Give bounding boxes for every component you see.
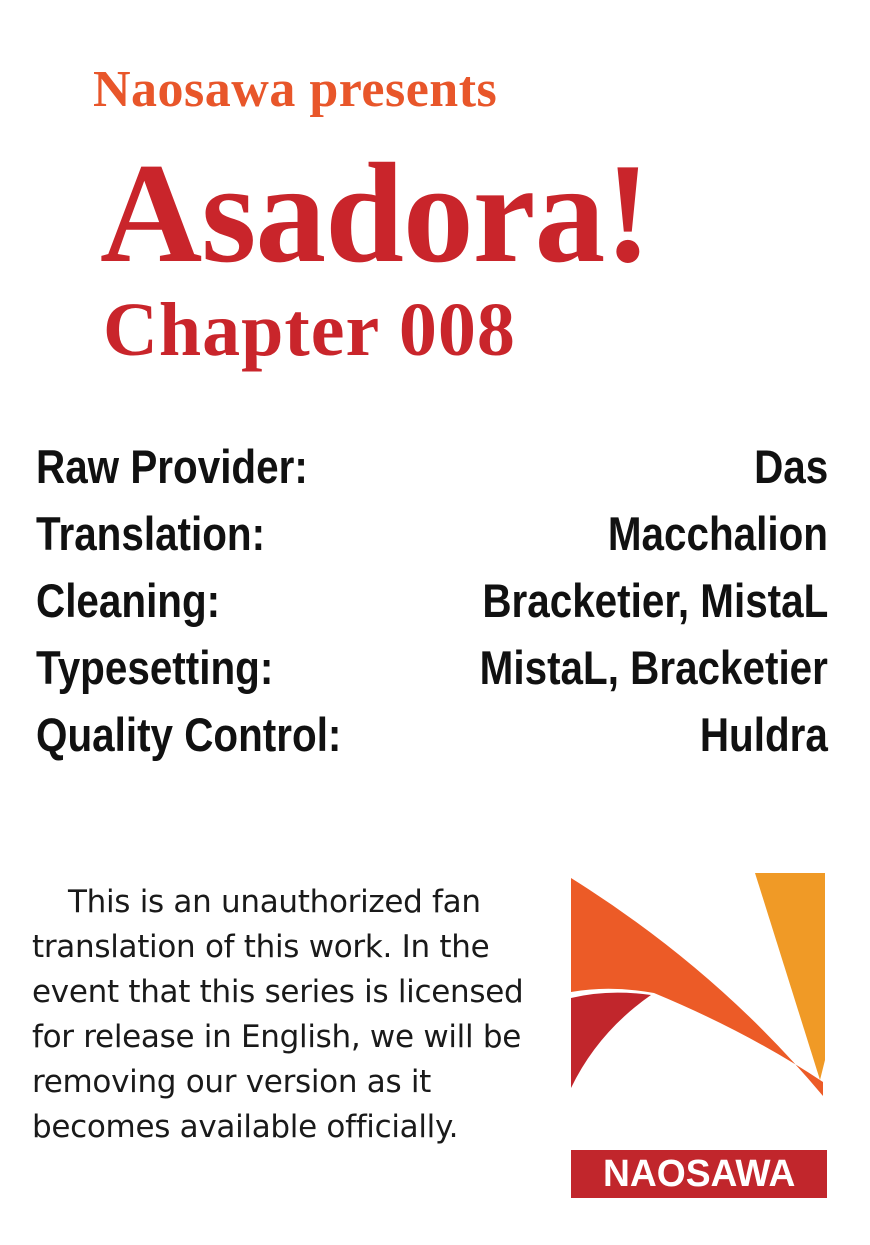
title-page: Naosawa presents Asadora! Chapter 008 Ra… bbox=[0, 0, 870, 1245]
chapter-title: Chapter 008 bbox=[103, 292, 516, 368]
presents-line: Naosawa presents bbox=[93, 64, 497, 116]
credit-role-label: Translation: bbox=[36, 500, 265, 567]
series-title: Asadora! bbox=[100, 142, 650, 285]
credit-name-value: MistaL, Bracketier bbox=[480, 634, 828, 701]
naosawa-logo-mark-icon bbox=[568, 870, 828, 1148]
credit-name-value: Huldra bbox=[700, 701, 828, 768]
credit-role-label: Quality Control: bbox=[36, 701, 341, 768]
credit-name-value: Bracketier, MistaL bbox=[482, 567, 828, 634]
credit-role-label: Typesetting: bbox=[36, 634, 273, 701]
credit-row-translation: Translation: Macchalion bbox=[36, 500, 828, 567]
logo-red-wedge-icon bbox=[571, 993, 651, 1088]
credit-row-raw-provider: Raw Provider: Das bbox=[36, 433, 828, 500]
logo-wordmark-text: NAOSAWA bbox=[603, 1155, 795, 1193]
credit-row-quality-control: Quality Control: Huldra bbox=[36, 701, 828, 768]
credit-role-label: Cleaning: bbox=[36, 567, 220, 634]
credits-list: Raw Provider: Das Translation: Macchalio… bbox=[36, 433, 828, 768]
credit-row-typesetting: Typesetting: MistaL, Bracketier bbox=[36, 634, 828, 701]
logo-wordmark-banner: NAOSAWA bbox=[571, 1150, 827, 1198]
credit-name-value: Macchalion bbox=[608, 500, 828, 567]
credit-role-label: Raw Provider: bbox=[36, 433, 308, 500]
credit-row-cleaning: Cleaning: Bracketier, MistaL bbox=[36, 567, 828, 634]
naosawa-logo: NAOSAWA bbox=[568, 870, 828, 1202]
logo-amber-blade-icon bbox=[755, 873, 825, 1080]
credit-name-value: Das bbox=[754, 433, 828, 500]
disclaimer-text: This is an unauthorized fan translation … bbox=[32, 880, 532, 1150]
